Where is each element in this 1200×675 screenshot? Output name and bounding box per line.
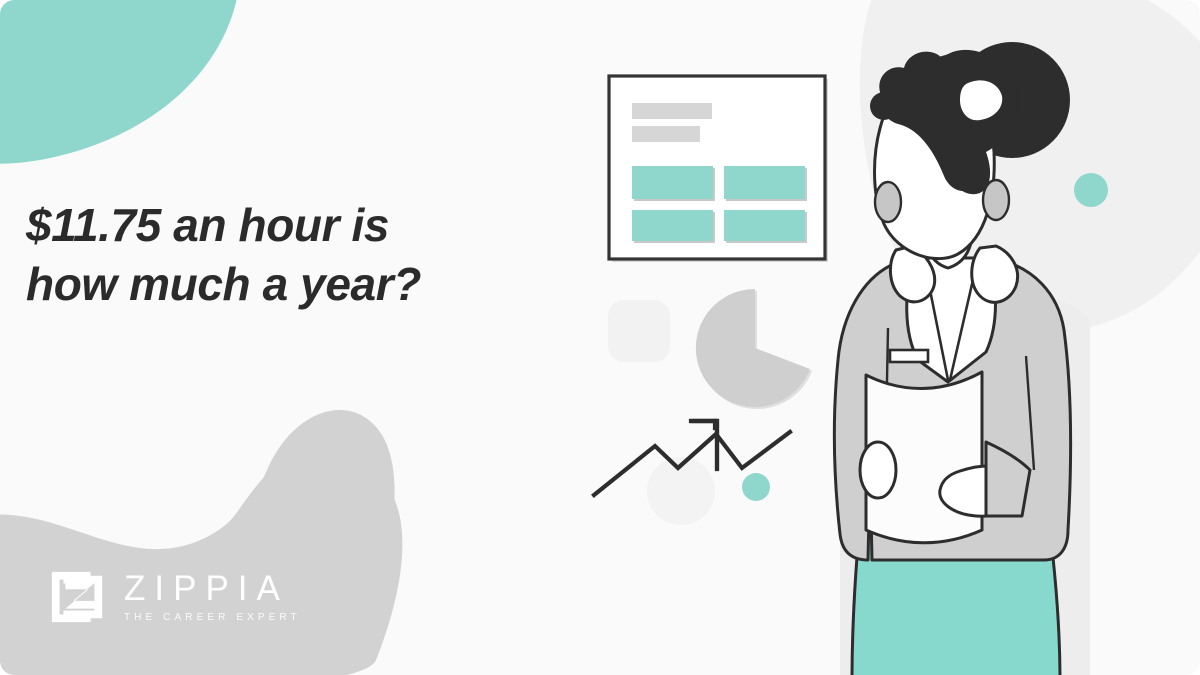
pocket-badge bbox=[890, 350, 928, 362]
placeholder-bar-2 bbox=[632, 126, 700, 142]
page-title: $11.75 an hour is how much a year? bbox=[26, 196, 546, 314]
poster-canvas: $11.75 an hour is how much a year? ZIPPI… bbox=[0, 0, 1200, 675]
zippia-z-logo-icon bbox=[48, 568, 106, 626]
brand-tagline: THE CAREER EXPERT bbox=[124, 613, 301, 623]
upward-trend-arrow bbox=[594, 421, 790, 495]
earring-left bbox=[875, 182, 901, 222]
placeholder-bar-1 bbox=[632, 103, 712, 119]
brand-logo[interactable]: ZIPPIA THE CAREER EXPERT bbox=[48, 568, 301, 626]
pie-chart bbox=[696, 289, 812, 409]
earring-right bbox=[983, 180, 1009, 220]
brand-name: ZIPPIA bbox=[124, 571, 301, 606]
spreadsheet-card bbox=[609, 76, 828, 262]
businesswoman-figure bbox=[834, 42, 1090, 675]
